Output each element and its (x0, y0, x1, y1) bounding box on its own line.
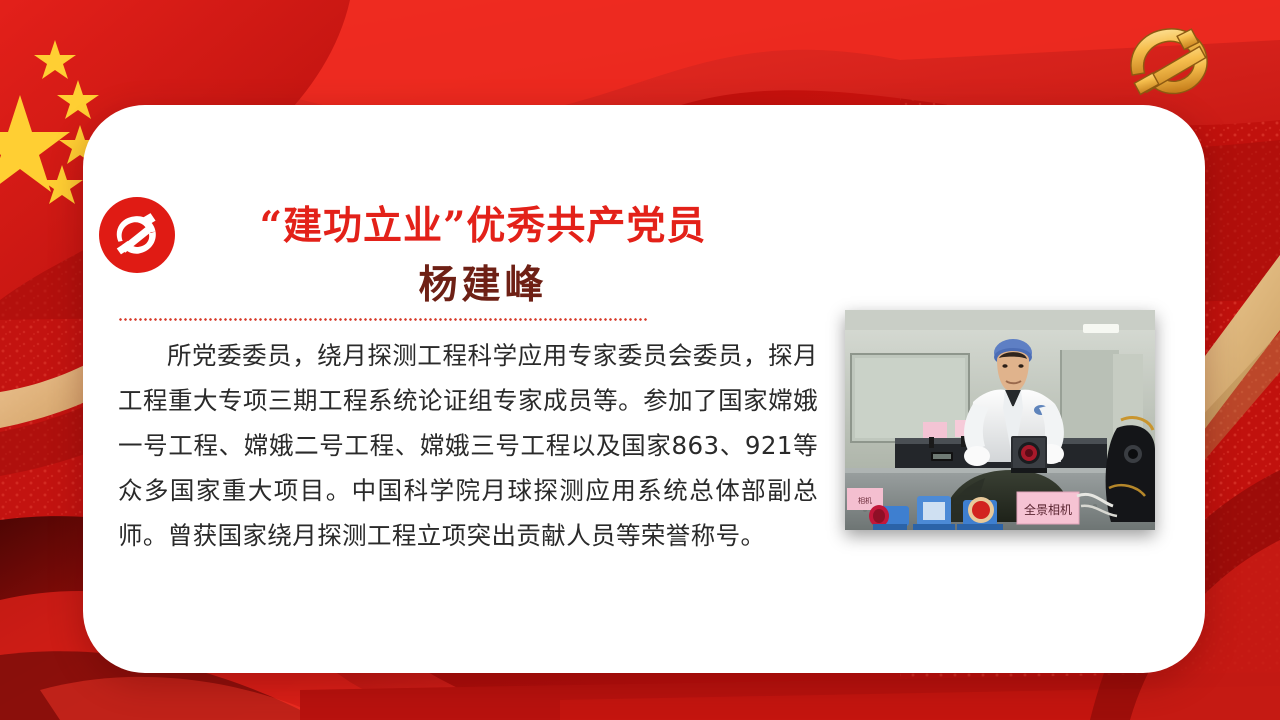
party-emblem-badge (99, 197, 175, 273)
page-title: “建功立业”优秀共产党员 (193, 197, 773, 255)
lab-scene-illustration: 全景相机 相机 (845, 310, 1155, 530)
person-name: 杨建峰 (193, 257, 773, 313)
svg-text:相机: 相机 (858, 496, 872, 505)
photo-caption-sign: 全景相机 (1024, 502, 1072, 517)
dotted-divider (118, 318, 648, 321)
biography-text: 所党委委员，绕月探测工程科学应用专家委员会委员，探月工程重大专项三期工程系统论证… (118, 333, 818, 558)
person-photo: 全景相机 相机 (845, 310, 1155, 530)
slide-canvas: “建功立业”优秀共产党员 杨建峰 所党委委员，绕月探测工程科学应用专家委员会委员… (0, 0, 1280, 720)
content-card: “建功立业”优秀共产党员 杨建峰 所党委委员，绕月探测工程科学应用专家委员会委员… (83, 105, 1205, 673)
party-emblem-hammer-sickle-icon (110, 208, 164, 262)
title-block: “建功立业”优秀共产党员 杨建峰 (193, 197, 773, 313)
